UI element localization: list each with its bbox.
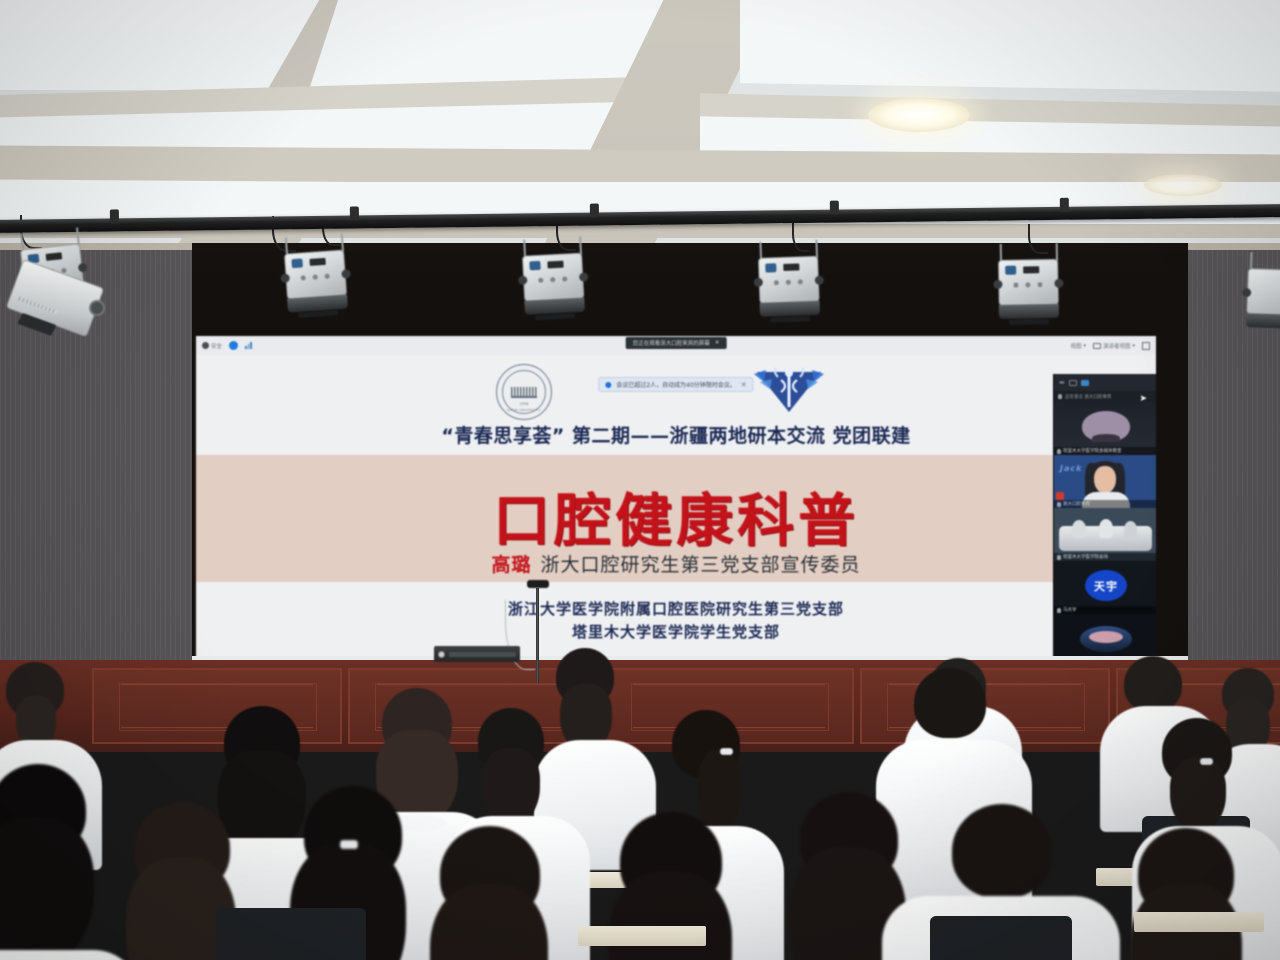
video-tile[interactable]: Jack ... LT 浙大口腔来宾 <box>1054 455 1156 508</box>
video-panel-subheader-text: 正在发言 浙大口腔来宾 <box>1065 394 1111 400</box>
microphone-icon <box>1057 555 1061 560</box>
layout-icon <box>1093 343 1101 349</box>
grid-view-icon[interactable]: ▬ <box>1059 379 1065 386</box>
power-cable <box>792 222 810 252</box>
slide-main-title: 口腔健康科普 <box>196 475 1156 557</box>
logo-arc-text: TARIM UNIVERSITY <box>507 408 541 412</box>
org-line-1: 浙江大学医学院附属口腔医院研究生第三党支部 <box>196 598 1156 621</box>
video-panel-header[interactable]: ▬ ➤ <box>1054 374 1156 391</box>
video-tile-name: 浙大口腔来宾 <box>1063 501 1090 507</box>
video-tile[interactable]: 塔里木大学医学院多媒体教室 <box>1054 402 1156 455</box>
meeting-notice-banner: 会议已超过2人，自动成为40分钟限时会议。 ✕ <box>598 377 753 392</box>
video-tile-name: 马天宇 <box>1063 607 1077 613</box>
avatar: 天宇 <box>1085 570 1127 601</box>
security-button[interactable]: 安全 <box>202 342 222 350</box>
microphone-icon <box>1058 394 1062 399</box>
chair-back <box>216 908 366 960</box>
presenter-name: 高璐 <box>491 554 531 576</box>
chevron-down-icon: ▾ <box>1132 343 1135 349</box>
ceiling-panel <box>740 0 1280 93</box>
video-tile[interactable]: 天宇 马天宇 <box>1054 561 1156 614</box>
participants-icon[interactable] <box>229 341 238 350</box>
mute-badge <box>1056 492 1064 500</box>
close-icon[interactable]: ✕ <box>741 381 747 389</box>
microphone-icon <box>1057 608 1061 613</box>
video-tile-name: 塔里木大学医学院会场 <box>1063 554 1108 560</box>
audience-area <box>0 640 1280 960</box>
view-dropdown[interactable]: 视图 ▾ <box>1070 342 1086 350</box>
slide-content: 会议已超过2人，自动成为40分钟限时会议。 ✕ 1958 TARIM UNIVE… <box>196 355 1156 668</box>
speaker-view-label: 演讲者视图 <box>1103 342 1131 350</box>
speaker-view-dropdown[interactable]: 演讲者视图 ▾ <box>1093 342 1135 350</box>
tarim-university-logo: 1958 TARIM UNIVERSITY <box>496 364 552 420</box>
projection-screen: 安全 视图 ▾ 演讲者视图 ▾ 您正在 <box>196 336 1156 668</box>
hair-clip <box>340 840 358 849</box>
slide-heading: “青春思享荟” 第二期——浙疆两地研本交流 党团联建 <box>196 421 1156 448</box>
logo-year: 1958 <box>520 402 529 406</box>
chevron-down-icon: ▾ <box>1083 343 1086 349</box>
desk <box>578 926 706 946</box>
gallery-view-icon[interactable] <box>1081 380 1089 386</box>
shield-icon <box>202 342 209 349</box>
sharing-status-text: 您正在观看浙大口腔来宾的屏幕 <box>633 339 710 347</box>
hair-clip <box>720 748 733 755</box>
sharing-status-pill: 您正在观看浙大口腔来宾的屏幕 ✕ <box>626 337 727 349</box>
video-tile-name: 塔里木大学医学院多媒体教室 <box>1063 448 1122 454</box>
organization-lines: 浙江大学医学院附属口腔医院研究生第三党支部 塔里木大学医学院学生党支部 <box>196 598 1156 644</box>
round-ceiling-light <box>868 98 970 132</box>
view-label: 视图 <box>1070 342 1081 350</box>
round-ceiling-light <box>1144 174 1222 196</box>
video-participant-panel[interactable]: ▬ ➤ 正在发言 浙大口腔来宾 塔里木大学医学院多媒体教室 Jack ... L… <box>1053 374 1156 668</box>
microphone-head <box>527 580 549 588</box>
presenter-role: 浙大口腔研究生第三党支部宣传委员 <box>541 554 861 576</box>
speaker-view-icon[interactable] <box>1069 380 1077 386</box>
video-tile[interactable]: 塔里木大学医学院会场 <box>1054 508 1156 561</box>
microphone-icon <box>1057 502 1061 507</box>
microphone-icon <box>1057 449 1061 454</box>
security-label: 安全 <box>211 342 222 350</box>
presenter-line: 高璐浙大口腔研究生第三党支部宣传委员 <box>196 550 1156 577</box>
medical-caduceus-logo <box>752 360 826 416</box>
close-icon[interactable]: ✕ <box>715 340 720 346</box>
hair-clip <box>1200 758 1213 765</box>
desk <box>1134 912 1264 932</box>
meeting-notice-text: 会议已超过2人，自动成为40分钟限时会议。 <box>616 380 735 389</box>
lecture-hall-photo: 安全 视图 ▾ 演讲者视图 ▾ 您正在 <box>0 0 1280 960</box>
fullscreen-icon[interactable] <box>1142 342 1150 350</box>
info-icon <box>605 382 611 388</box>
chair-back <box>930 916 1072 960</box>
slide-accent-band: 口腔健康科普 高璐浙大口腔研究生第三党支部宣传委员 <box>196 455 1156 582</box>
signal-icon <box>245 342 252 349</box>
